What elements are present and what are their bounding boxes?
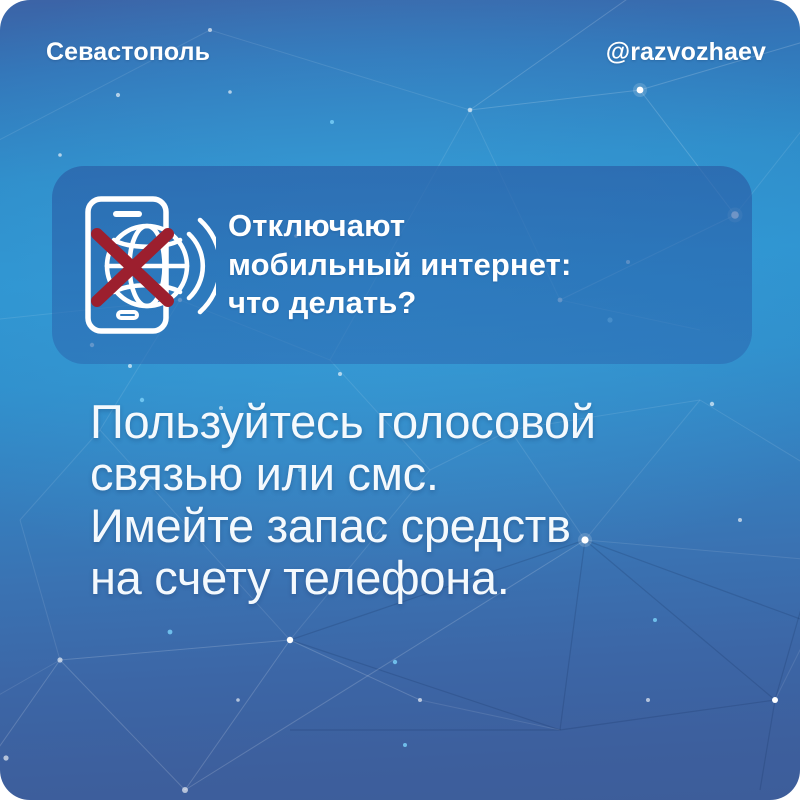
headline-card: Отключают мобильный интернет: что делать… — [52, 166, 752, 364]
body-line-3: Имейте запас средств — [90, 500, 750, 552]
poster-header: Севастополь @razvozhaev — [46, 40, 766, 65]
body-line-4: на счету телефона. — [90, 552, 750, 604]
body-message: Пользуйтесь голосовой связью или смс. Им… — [90, 396, 750, 604]
city-label: Севастополь — [46, 40, 210, 65]
body-line-2: связью или смс. — [90, 448, 750, 500]
card-title-line-2: мобильный интернет: — [228, 246, 571, 284]
account-handle: @razvozhaev — [606, 40, 766, 65]
body-line-1: Пользуйтесь голосовой — [90, 396, 750, 448]
card-title-line-3: что делать? — [228, 284, 571, 322]
phone-no-internet-icon — [76, 190, 216, 340]
card-title-line-1: Отключают — [228, 207, 571, 245]
card-title: Отключают мобильный интернет: что делать… — [228, 207, 571, 322]
poster-canvas: Севастополь @razvozhaev — [0, 0, 800, 800]
